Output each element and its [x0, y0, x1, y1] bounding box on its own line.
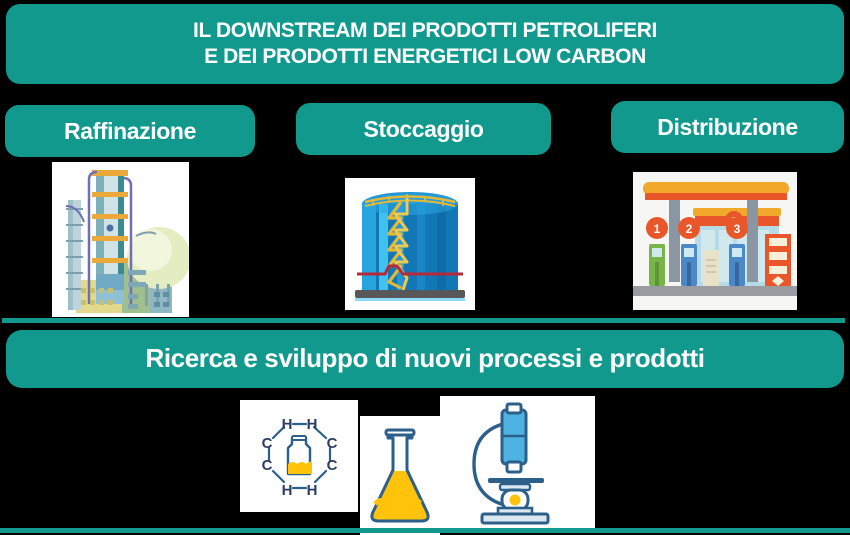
atom-label-c4: C — [262, 457, 273, 474]
gas-station-image-panel: 3 1 2 3 — [633, 172, 797, 310]
research-banner: Ricerca e sviluppo di nuovi processi e p… — [6, 330, 844, 388]
flask-image-panel — [360, 416, 440, 535]
atom-label-c2: C — [327, 457, 338, 474]
erlenmeyer-flask-icon — [360, 416, 440, 535]
atom-label-c3: C — [262, 435, 273, 452]
section-label-distribuzione: Distribuzione — [657, 113, 797, 141]
research-label: Ricerca e sviluppo di nuovi processi e p… — [145, 343, 704, 375]
section-header-stoccaggio: Stoccaggio — [296, 103, 551, 155]
molecule-image-panel: H H C C C C H H — [240, 400, 358, 512]
title-banner: IL DOWNSTREAM DEI PRODOTTI PETROLIFERI E… — [6, 4, 844, 84]
storage-tank-illustration — [345, 178, 475, 310]
section-header-distribuzione: Distribuzione — [611, 101, 844, 153]
oil-refinery-illustration — [52, 162, 189, 317]
microscope-icon — [440, 396, 595, 530]
title-line-1: IL DOWNSTREAM DEI PRODOTTI PETROLIFERI — [193, 18, 657, 44]
microscope-image-panel — [440, 396, 595, 530]
gas-station-illustration: 3 1 2 3 — [633, 172, 797, 310]
atom-label-h4: H — [307, 482, 318, 499]
atom-label-h3: H — [282, 482, 293, 499]
section-divider-rule — [2, 318, 845, 323]
pump-badge-2: 2 — [686, 222, 693, 236]
bottom-rule — [0, 528, 850, 533]
atom-label-c1: C — [327, 435, 338, 452]
atom-label-h1: H — [282, 416, 293, 433]
oil-refinery-image-panel — [52, 162, 189, 317]
hydrocarbon-molecule-icon: H H C C C C H H — [240, 400, 358, 512]
slide-canvas: IL DOWNSTREAM DEI PRODOTTI PETROLIFERI E… — [0, 0, 850, 535]
section-label-stoccaggio: Stoccaggio — [364, 115, 484, 143]
pump-badge-1: 1 — [654, 222, 661, 236]
section-header-raffinazione: Raffinazione — [5, 105, 255, 157]
pump-badge-3: 3 — [734, 222, 741, 236]
title-line-2: E DEI PRODOTTI ENERGETICI LOW CARBON — [193, 44, 657, 70]
storage-tank-image-panel — [345, 178, 475, 310]
atom-label-h2: H — [307, 416, 318, 433]
section-label-raffinazione: Raffinazione — [64, 117, 196, 145]
